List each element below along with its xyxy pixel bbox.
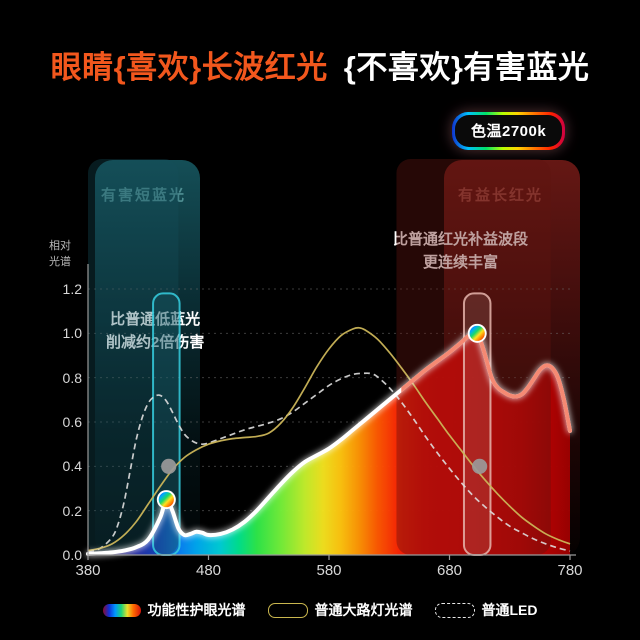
chart-legend: 功能性护眼光谱普通大路灯光谱普通LED — [0, 600, 640, 620]
rainbow-marker-red-peak — [468, 324, 487, 343]
legend-item-2: 普通LED — [435, 600, 538, 620]
legend-label-0: 功能性护眼光谱 — [148, 600, 246, 620]
spectrum-chart — [0, 0, 640, 640]
rainbow-fill-swatch — [103, 604, 141, 617]
legend-item-0: 功能性护眼光谱 — [103, 600, 246, 620]
spectrum-infographic: 眼睛{喜欢}长波红光{不喜欢}有害蓝光 色温2700k 有害短蓝光 有益长红光 … — [0, 0, 640, 640]
yellow-outline-swatch — [268, 603, 308, 618]
gray-marker-blue-band — [161, 459, 176, 474]
rainbow-marker-blue-peak — [157, 490, 176, 509]
legend-label-2: 普通LED — [482, 600, 538, 620]
legend-item-1: 普通大路灯光谱 — [268, 600, 413, 620]
white-dashed-swatch — [435, 603, 475, 618]
gray-marker-red-band — [472, 459, 487, 474]
legend-label-1: 普通大路灯光谱 — [315, 600, 413, 620]
